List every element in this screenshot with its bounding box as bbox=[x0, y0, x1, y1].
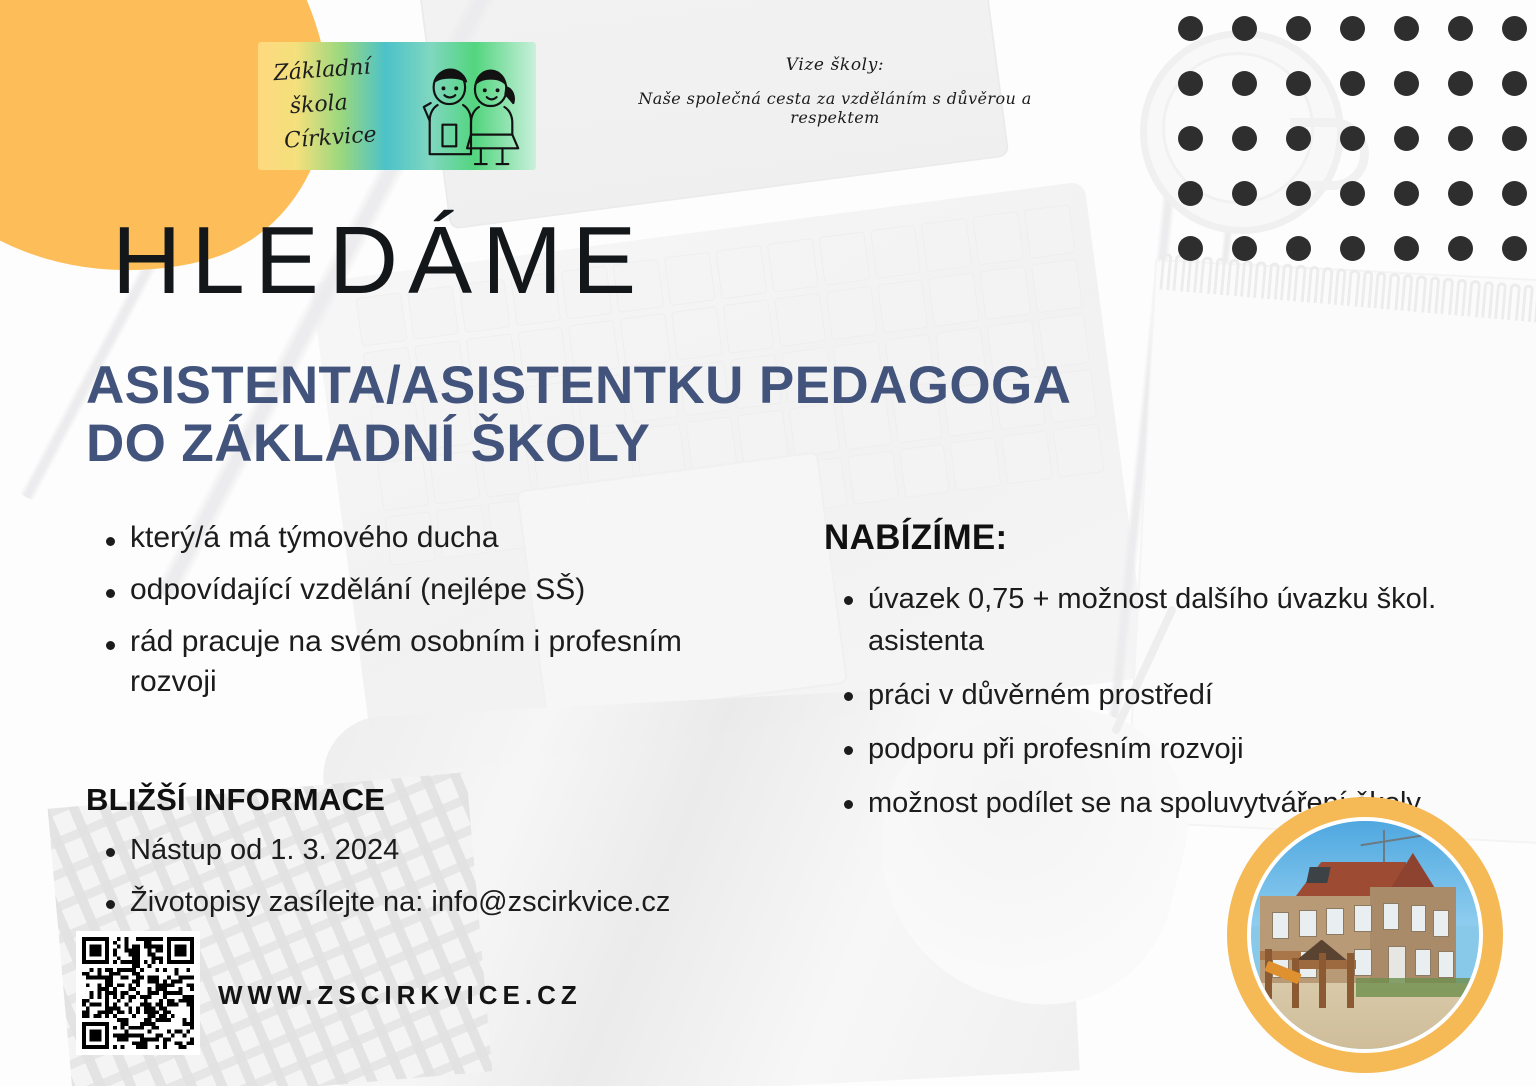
list-item: rád pracuje na svém osobním i profesním … bbox=[90, 622, 740, 702]
qr-code-canvas bbox=[82, 937, 194, 1049]
website-url[interactable]: WWW.ZSCIRKVICE.CZ bbox=[218, 980, 582, 1011]
poster-canvas: Základní škola Církvice bbox=[0, 0, 1536, 1086]
list-item: odpovídající vzdělání (nejlépe SŠ) bbox=[90, 570, 740, 610]
offer-heading: NABÍZÍME: bbox=[824, 518, 1008, 558]
info-heading: BLIŽŠÍ INFORMACE bbox=[86, 782, 385, 818]
two-children-icon bbox=[412, 48, 530, 166]
list-item: úvazek 0,75 + možnost dalšího úvazku ško… bbox=[828, 578, 1518, 662]
info-list: Nástup od 1. 3. 2024 Životopisy zasílejt… bbox=[90, 830, 790, 934]
list-item: Nástup od 1. 3. 2024 bbox=[90, 830, 790, 870]
qr-code[interactable] bbox=[76, 931, 200, 1055]
school-photo-ring bbox=[1227, 797, 1503, 1073]
list-item: podporu při profesním rozvoji bbox=[828, 728, 1518, 770]
requirements-list: který/á má týmového ducha odpovídající v… bbox=[90, 518, 740, 714]
list-item: práci v důvěrném prostředí bbox=[828, 674, 1518, 716]
offer-list: úvazek 0,75 + možnost dalšího úvazku ško… bbox=[828, 578, 1518, 836]
list-item: který/á má týmového ducha bbox=[90, 518, 740, 558]
vision-text: Naše společná cesta za vzděláním s důvěr… bbox=[600, 89, 1070, 127]
dot-grid-decoration bbox=[1178, 16, 1536, 291]
job-role-line-1: ASISTENTA/ASISTENTKU PEDAGOGA bbox=[86, 356, 1071, 415]
list-item: Životopisy zasílejte na: info@zscirkvice… bbox=[90, 882, 790, 922]
school-photo bbox=[1247, 817, 1483, 1053]
job-role-line-2: DO ZÁKLADNÍ ŠKOLY bbox=[86, 415, 1286, 473]
vision-label: Vize školy: bbox=[600, 55, 1070, 75]
school-vision: Vize školy: Naše společná cesta za vzděl… bbox=[600, 55, 1070, 127]
school-logo: Základní škola Církvice bbox=[258, 42, 536, 170]
page-title: HLEDÁME bbox=[112, 213, 646, 309]
school-logo-text: Základní škola Církvice bbox=[272, 47, 429, 167]
job-role-title: ASISTENTA/ASISTENTKU PEDAGOGA DO ZÁKLADN… bbox=[86, 357, 1286, 473]
